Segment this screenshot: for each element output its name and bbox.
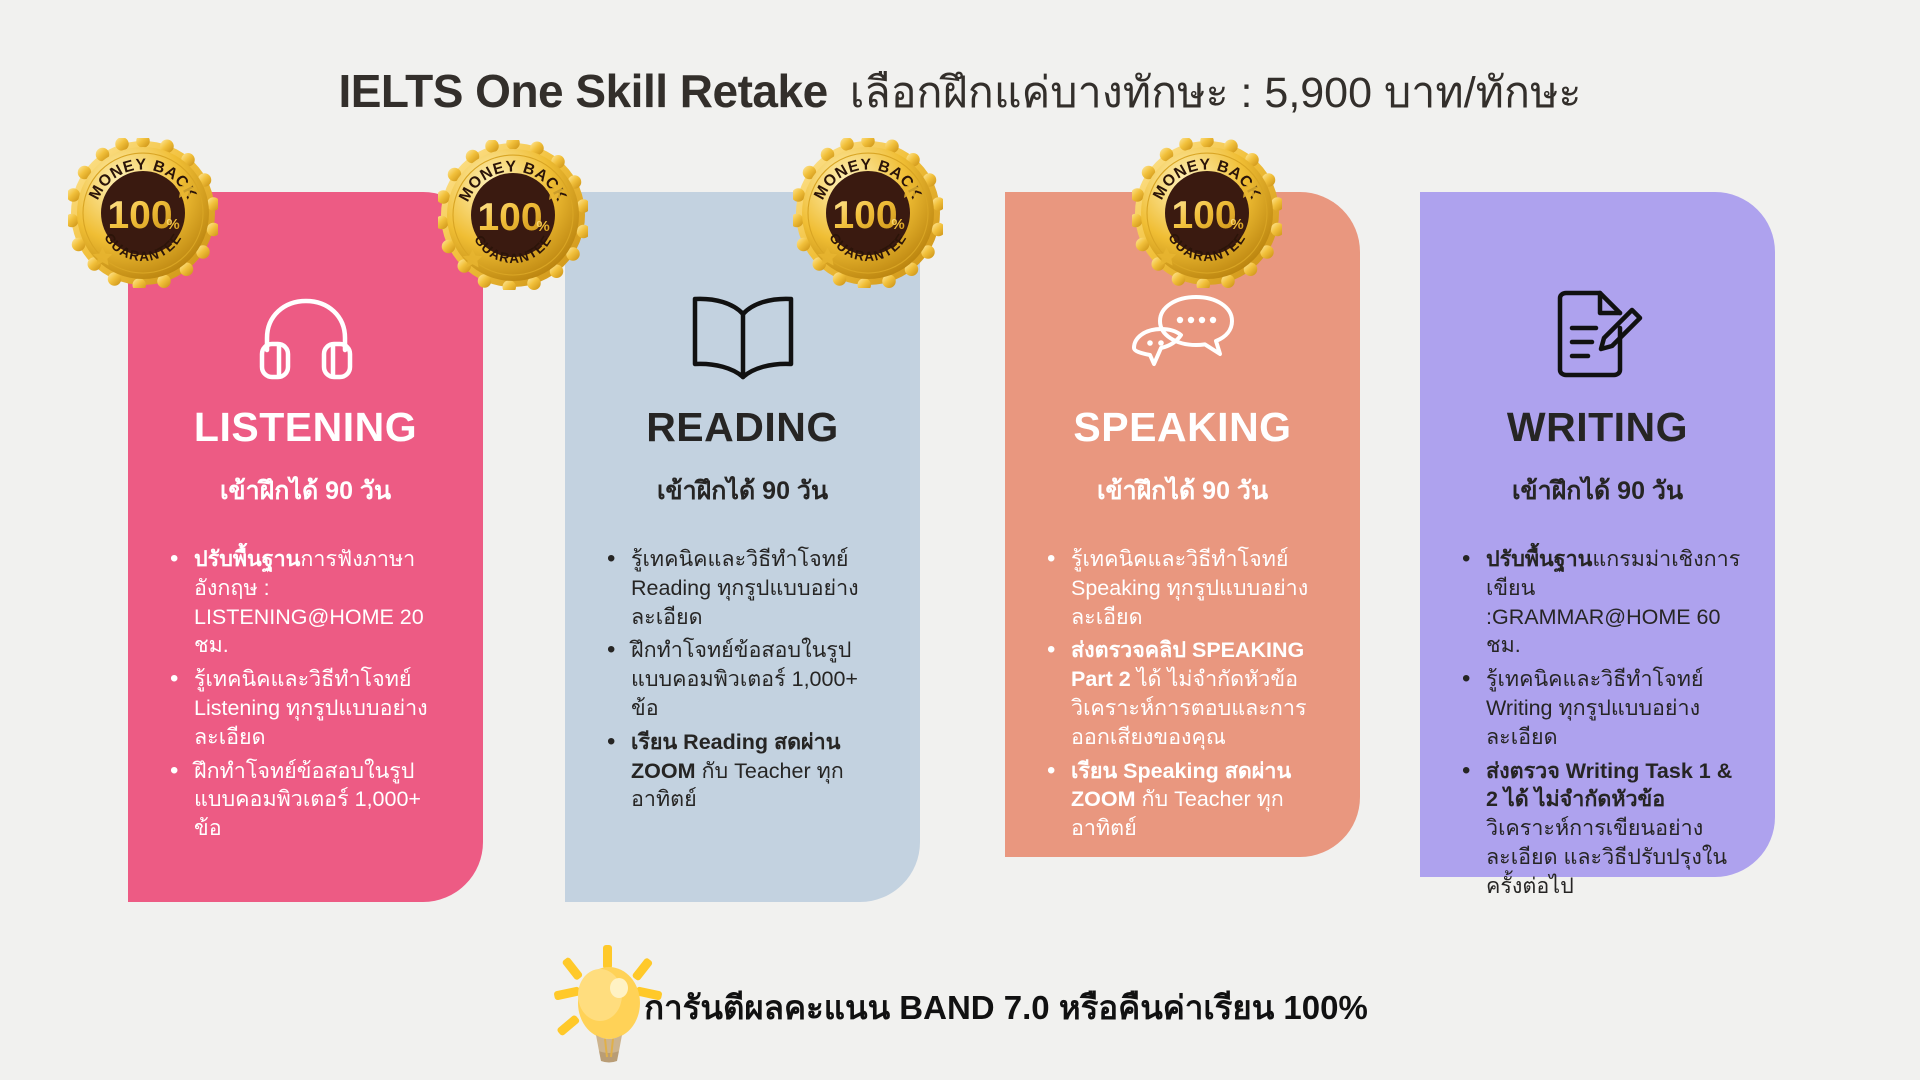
- document-pencil-icon: [1446, 240, 1749, 390]
- infographic-page: IELTS One Skill Retake เลือกฝึกแค่บางทัก…: [0, 0, 1920, 1080]
- svg-text:%: %: [1230, 216, 1243, 233]
- page-header: IELTS One Skill Retake เลือกฝึกแค่บางทัก…: [0, 58, 1920, 126]
- svg-text:%: %: [891, 216, 904, 233]
- card-title-writing: WRITING: [1446, 404, 1749, 451]
- svg-text:%: %: [166, 216, 179, 233]
- svg-text:100: 100: [477, 196, 542, 239]
- footer-guarantee: การันตีผลคะแนน BAND 7.0 หรือคืนค่าเรียน …: [0, 945, 1920, 1070]
- bullet-bold: ปรับพื้นฐาน: [194, 547, 300, 571]
- money-back-badge: MONEY BACK GUARANTEE 100 %: [1132, 138, 1282, 288]
- skill-card-listening[interactable]: LISTENING เข้าฝึกได้ 90 วัน ปรับพื้นฐานก…: [128, 192, 483, 902]
- money-back-badge: MONEY BACK GUARANTEE 100 %: [68, 138, 218, 288]
- card-title-reading: READING: [591, 404, 894, 451]
- card-bullets-writing: ปรับพื้นฐานแกรมม่าเชิงการเขียน :GRAMMAR@…: [1446, 545, 1749, 901]
- list-item: รู้เทคนิคและวิธีทำโจทย์ Reading ทุกรูปแบ…: [607, 545, 890, 631]
- list-item: ปรับพื้นฐานแกรมม่าเชิงการเขียน :GRAMMAR@…: [1462, 545, 1745, 660]
- card-title-speaking: SPEAKING: [1031, 404, 1334, 451]
- bullet-text: รู้เทคนิคและวิธีทำโจทย์ Reading ทุกรูปแบ…: [631, 547, 859, 629]
- skill-card-reading[interactable]: READING เข้าฝึกได้ 90 วัน รู้เทคนิคและวิ…: [565, 192, 920, 902]
- svg-text:%: %: [536, 218, 549, 235]
- page-subtitle: เลือกฝึกแค่บางทักษะ : 5,900 บาท/ทักษะ: [850, 58, 1582, 126]
- bullet-text: รู้เทคนิคและวิธีทำโจทย์ Listening ทุกรูป…: [194, 667, 428, 749]
- card-duration-reading: เข้าฝึกได้ 90 วัน: [591, 471, 894, 511]
- bullet-bold: ปรับพื้นฐาน: [1486, 547, 1592, 571]
- page-title: IELTS One Skill Retake: [338, 64, 827, 118]
- svg-text:100: 100: [832, 194, 897, 237]
- svg-text:100: 100: [107, 194, 172, 237]
- list-item: ฝึกทำโจทย์ข้อสอบในรูปแบบคอมพิวเตอร์ 1,00…: [170, 757, 453, 843]
- list-item: ฝึกทำโจทย์ข้อสอบในรูปแบบคอมพิวเตอร์ 1,00…: [607, 636, 890, 722]
- list-item: รู้เทคนิคและวิธีทำโจทย์ Listening ทุกรูป…: [170, 665, 453, 751]
- list-item: ปรับพื้นฐานการฟังภาษาอังกฤษ : LISTENING@…: [170, 545, 453, 660]
- bullet-text: รู้เทคนิคและวิธีทำโจทย์ Speaking ทุกรูปแ…: [1071, 547, 1308, 629]
- list-item: เรียน Speaking สดผ่าน ZOOM กับ Teacher ท…: [1047, 757, 1330, 843]
- bullet-text: ฝึกทำโจทย์ข้อสอบในรูปแบบคอมพิวเตอร์ 1,00…: [631, 638, 858, 720]
- money-back-badge: MONEY BACK GUARANTEE 100 %: [438, 140, 588, 290]
- list-item: รู้เทคนิคและวิธีทำโจทย์ Writing ทุกรูปแบ…: [1462, 665, 1745, 751]
- skill-card-speaking[interactable]: SPEAKING เข้าฝึกได้ 90 วัน รู้เทคนิคและว…: [1005, 192, 1360, 857]
- card-title-listening: LISTENING: [154, 404, 457, 451]
- list-item: ส่งตรวจคลิป SPEAKING Part 2 ได้ ไม่จำกัด…: [1047, 636, 1330, 751]
- card-duration-speaking: เข้าฝึกได้ 90 วัน: [1031, 471, 1334, 511]
- bullet-text: ฝึกทำโจทย์ข้อสอบในรูปแบบคอมพิวเตอร์ 1,00…: [194, 759, 421, 841]
- skill-card-writing[interactable]: WRITING เข้าฝึกได้ 90 วัน ปรับพื้นฐานแกร…: [1420, 192, 1775, 877]
- card-bullets-reading: รู้เทคนิคและวิธีทำโจทย์ Reading ทุกรูปแบ…: [591, 545, 894, 814]
- list-item: ส่งตรวจ Writing Task 1 & 2 ได้ ไม่จำกัดห…: [1462, 757, 1745, 901]
- list-item: รู้เทคนิคและวิธีทำโจทย์ Speaking ทุกรูปแ…: [1047, 545, 1330, 631]
- skill-cards-row: LISTENING เข้าฝึกได้ 90 วัน ปรับพื้นฐานก…: [0, 192, 1920, 912]
- card-bullets-speaking: รู้เทคนิคและวิธีทำโจทย์ Speaking ทุกรูปแ…: [1031, 545, 1334, 843]
- list-item: เรียน Reading สดผ่าน ZOOM กับ Teacher ทุ…: [607, 728, 890, 814]
- card-bullets-listening: ปรับพื้นฐานการฟังภาษาอังกฤษ : LISTENING@…: [154, 545, 457, 843]
- bullet-bold: ส่งตรวจ Writing Task 1 & 2 ได้ ไม่จำกัดห…: [1486, 759, 1732, 812]
- card-duration-listening: เข้าฝึกได้ 90 วัน: [154, 471, 457, 511]
- bullet-text: รู้เทคนิคและวิธีทำโจทย์ Writing ทุกรูปแบ…: [1486, 667, 1703, 749]
- money-back-badge: MONEY BACK GUARANTEE 100 %: [793, 138, 943, 288]
- bullet-text: วิเคราะห์การเขียนอย่างละเอียด และวิธีปรั…: [1486, 816, 1727, 898]
- footer-guarantee-text: การันตีผลคะแนน BAND 7.0 หรือคืนค่าเรียน …: [644, 981, 1368, 1034]
- card-duration-writing: เข้าฝึกได้ 90 วัน: [1446, 471, 1749, 511]
- svg-text:100: 100: [1171, 194, 1236, 237]
